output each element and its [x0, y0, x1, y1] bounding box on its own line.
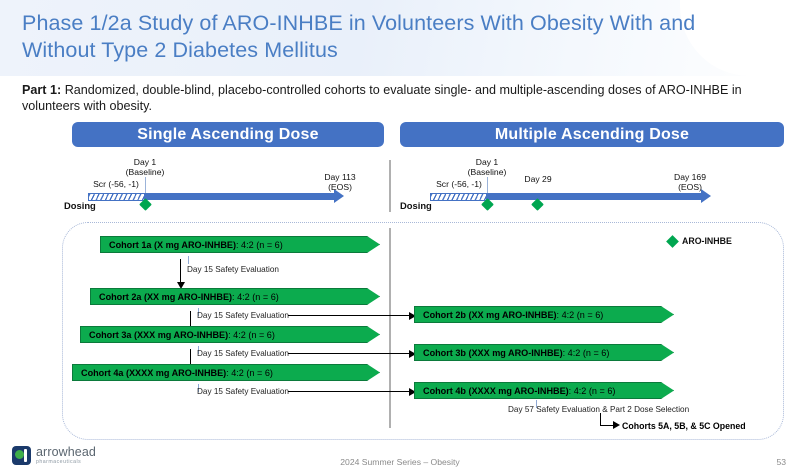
green-diamond-icon — [666, 235, 679, 248]
mad-end-label-line2: (EOS) — [660, 182, 720, 192]
sad-down-arrow-1 — [180, 259, 181, 283]
cohort-bar-2a[interactable]: Cohort 2a (XX mg ARO-INHBE): 4:2 (n = 6) — [90, 288, 380, 305]
sad-safety-label-4: Day 15 Safety Evaluation — [197, 387, 289, 396]
sad-safety-label-2: Day 15 Safety Evaluation — [197, 311, 289, 320]
sad-screening-label: Scr (-56, -1) — [85, 179, 147, 189]
slide: Phase 1/2a Study of ARO-INHBE in Volunte… — [0, 0, 800, 473]
cohort-bar-4b-text: Cohort 4b (XXXX mg ARO-INHBE): 4:2 (n = … — [415, 386, 615, 396]
mad-mid-label-day29: Day 29 — [508, 174, 568, 184]
sad-baseline-label-line2: (Baseline) — [110, 167, 180, 177]
subtitle-text: Randomized, double-blind, placebo-contro… — [22, 83, 742, 113]
cohort-bar-2b-text: Cohort 2b (XX mg ARO-INHBE): 4:2 (n = 6) — [415, 310, 603, 320]
sad-timeline-axis — [145, 193, 335, 200]
cohort-bar-4b[interactable]: Cohort 4b (XXXX mg ARO-INHBE): 4:2 (n = … — [414, 382, 674, 399]
cohort-bar-4a-text: Cohort 4a (XXXX mg ARO-INHBE): 4:2 (n = … — [73, 368, 273, 378]
cohort-bar-3a[interactable]: Cohort 3a (XXX mg ARO-INHBE): 4:2 (n = 6… — [80, 326, 380, 343]
mad-dosing-diamond-day29 — [531, 198, 544, 211]
cohort-bar-3a-text: Cohort 3a (XXX mg ARO-INHBE): 4:2 (n = 6… — [81, 330, 275, 340]
cohort-bar-4a[interactable]: Cohort 4a (XXXX mg ARO-INHBE): 4:2 (n = … — [72, 364, 380, 381]
mad-dosing-label: Dosing — [400, 200, 432, 211]
page-title: Phase 1/2a Study of ARO-INHBE in Volunte… — [22, 10, 762, 64]
connector-2a-to-2b — [288, 315, 410, 316]
sad-safety-label-3: Day 15 Safety Evaluation — [197, 349, 289, 358]
mad-end-label-line1: Day 169 — [660, 172, 720, 182]
cohort-area-divider — [389, 228, 391, 428]
legend-label: ARO-INHBE — [682, 236, 732, 246]
mad-screening-label: Scr (-56, -1) — [428, 179, 490, 189]
cohort-bar-2b[interactable]: Cohort 2b (XX mg ARO-INHBE): 4:2 (n = 6) — [414, 306, 674, 323]
sad-tick-1 — [188, 256, 189, 264]
cohort-bar-3b-text: Cohort 3b (XXX mg ARO-INHBE): 4:2 (n = 6… — [415, 348, 609, 358]
mad-screening-bar — [430, 193, 487, 201]
mad-baseline-label-line1: Day 1 — [452, 157, 522, 167]
sad-baseline-label-line1: Day 1 — [110, 157, 180, 167]
connector-3a-to-3b — [288, 353, 410, 354]
panel-header-single-ascending-dose: Single Ascending Dose — [72, 122, 384, 147]
sad-dosing-label: Dosing — [64, 200, 96, 211]
mad-timeline-axis — [487, 193, 702, 200]
cohort-bar-1a[interactable]: Cohort 1a (X mg ARO-INHBE): 4:2 (n = 6) — [100, 236, 380, 253]
panel-header-multiple-ascending-dose: Multiple Ascending Dose — [400, 122, 784, 147]
cohort-bar-3b[interactable]: Cohort 3b (XXX mg ARO-INHBE): 4:2 (n = 6… — [414, 344, 674, 361]
subtitle: Part 1: Randomized, double-blind, placeb… — [22, 82, 782, 114]
cohorts5-opened-label: Cohorts 5A, 5B, & 5C Opened — [622, 421, 746, 431]
sad-end-label-line2: (EOS) — [310, 182, 370, 192]
footer-center-text: 2024 Summer Series – Obesity — [0, 457, 800, 467]
sad-screening-bar — [88, 193, 145, 201]
mad-day57-label: Day 57 Safety Evaluation & Part 2 Dose S… — [508, 405, 689, 414]
connector-4a-to-4b — [288, 391, 410, 392]
panel-divider — [389, 160, 391, 212]
subtitle-bold-prefix: Part 1: — [22, 83, 61, 97]
sad-safety-label-1: Day 15 Safety Evaluation — [187, 265, 279, 274]
cohort-bar-1a-text: Cohort 1a (X mg ARO-INHBE): 4:2 (n = 6) — [101, 240, 283, 250]
sad-end-label-line1: Day 113 — [310, 172, 370, 182]
legend: ARO-INHBE — [668, 236, 732, 246]
cohort-bar-2a-text: Cohort 2a (XX mg ARO-INHBE): 4:2 (n = 6) — [91, 292, 279, 302]
footer-page-number: 53 — [776, 457, 786, 467]
